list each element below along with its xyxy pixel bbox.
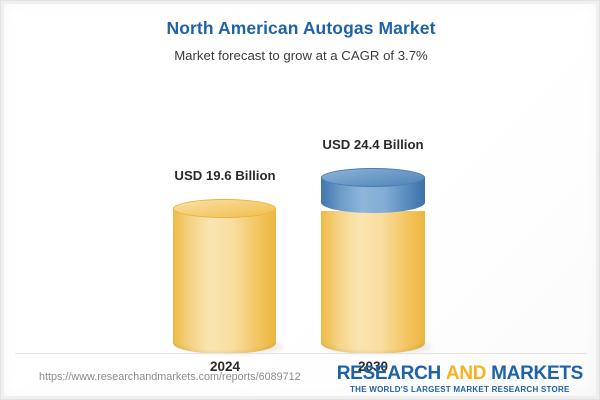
- bar-value-label-2024: USD 19.6 Billion: [135, 168, 315, 183]
- logo-word-research: RESEARCH: [337, 363, 441, 384]
- chart-footer: https://www.researchandmarkets.com/repor…: [1, 353, 600, 400]
- cylinder-body-2024: [173, 208, 276, 343]
- cylinder-blue-2030: [321, 168, 425, 213]
- logo-word-and: AND: [446, 363, 486, 384]
- research-and-markets-logo[interactable]: RESEARCH AND MARKETS THE WORLD'S LARGEST…: [337, 363, 583, 394]
- logo-tagline: THE WORLD'S LARGEST MARKET RESEARCH STOR…: [337, 385, 583, 394]
- cylinder-top-2024: [173, 199, 276, 218]
- bar-2024[interactable]: USD 19.6 Billion 2024: [173, 44, 276, 349]
- cylinder-top-2030: [321, 168, 425, 187]
- bar-2030[interactable]: USD 24.4 Billion 2030: [321, 44, 425, 349]
- bar-value-label-2030: USD 24.4 Billion: [283, 137, 463, 152]
- report-url[interactable]: https://www.researchandmarkets.com/repor…: [39, 371, 301, 383]
- logo-word-markets: MARKETS: [491, 363, 583, 384]
- chart-plot-area: USD 19.6 Billion 2024 USD 24.4 Billion: [1, 1, 600, 349]
- cylinder-body-gold-2030: [321, 211, 425, 343]
- cylinder-gold-2024: [173, 199, 276, 349]
- chart-card: North American Autogas Market Market for…: [0, 0, 600, 400]
- logo-wordmark: RESEARCH AND MARKETS: [337, 363, 583, 384]
- cylinder-gold-2030: [321, 211, 425, 349]
